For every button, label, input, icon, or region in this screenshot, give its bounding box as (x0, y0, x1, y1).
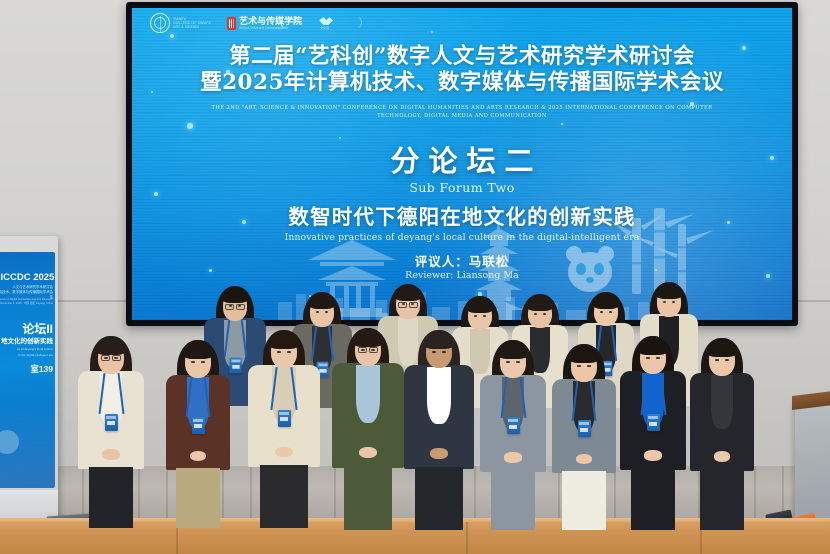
conference-badge (278, 410, 291, 427)
lower-garment (631, 468, 676, 529)
group-of-attendees (0, 0, 830, 554)
hair-fringe (424, 333, 453, 348)
hair-fringe (309, 295, 336, 309)
attendee-1 (78, 336, 144, 526)
hair-fringe (498, 343, 527, 358)
inner-garment (711, 375, 733, 429)
banner-forum-topic-en: es of deyang's local culture (0, 347, 55, 351)
glasses-icon (358, 347, 379, 351)
eye (534, 313, 537, 315)
banner-forum-topic-en2: in the digital-intelligent era (0, 353, 55, 357)
hair-fringe (222, 289, 249, 303)
hair-fringe (569, 347, 598, 362)
glasses-icon (398, 302, 417, 306)
banner-forum-label: 论坛II (0, 322, 55, 336)
lower-garment (89, 467, 134, 528)
attendee-3 (248, 330, 320, 526)
rollup-banner: & ICCDC 2025 人文与艺术研究学术研讨会 计算机技术、数字媒体与传播国… (0, 236, 58, 530)
hair-fringe (467, 299, 493, 313)
hair-fringe (96, 339, 125, 354)
conference-badge (229, 357, 241, 373)
lower-garment (260, 465, 309, 528)
attendee-4 (332, 328, 404, 528)
eye (600, 311, 603, 313)
banner-subtitle-cn: 人文与艺术研究学术研讨会 (0, 285, 55, 290)
hair-fringe (183, 343, 212, 358)
conference-badge (192, 417, 205, 434)
banner-subtitle-en: Conference on Digital Humanities and Art… (0, 298, 55, 301)
lower-garment (562, 471, 606, 530)
eye (474, 315, 477, 317)
banner-room-label: 室139 (0, 364, 55, 374)
conference-badge (507, 417, 520, 434)
attendee-6 (480, 340, 546, 528)
lectern (795, 394, 830, 531)
attendee-5 (404, 330, 474, 528)
banner-forum-topic-cn: 地文化的创新实践 (0, 338, 55, 346)
hands (504, 452, 521, 462)
hands (714, 451, 731, 461)
lower-garment (700, 469, 744, 530)
inner-garment (427, 367, 451, 424)
lower-garment (415, 467, 463, 530)
attendee-8 (620, 336, 686, 528)
banner-date: November 1, 2025 · 中国·德阳 Deyang, China (0, 302, 55, 305)
room-scene: TIANFU COLLEGE OF SWUFE ART & DESIGN 艺术与… (0, 0, 830, 554)
hair-fringe (656, 285, 683, 299)
hands (359, 447, 378, 458)
hair-fringe (527, 297, 553, 311)
attendee-7 (552, 344, 616, 528)
hair-fringe (269, 333, 298, 348)
conference-badge (578, 420, 591, 437)
lower-garment (176, 468, 220, 528)
hair-fringe (707, 341, 736, 356)
hands (644, 450, 661, 461)
rollup-banner-artwork: & ICCDC 2025 人文与艺术研究学术研讨会 计算机技术、数字媒体与传播国… (0, 252, 55, 488)
lower-garment (491, 470, 536, 530)
glasses-icon (101, 355, 122, 359)
hands (576, 454, 593, 464)
hair-fringe (353, 331, 382, 346)
conference-badge (647, 414, 660, 431)
attendee-2 (166, 340, 230, 526)
lower-garment (344, 466, 393, 530)
conference-badge (105, 414, 118, 431)
hair-fringe (593, 295, 619, 309)
glasses-icon (225, 304, 244, 308)
attendee-9 (690, 338, 754, 528)
hair-fringe (638, 339, 667, 354)
hair-fringe (395, 287, 422, 301)
hands (430, 448, 448, 459)
inner-garment (356, 365, 380, 423)
banner-title: & ICCDC 2025 (0, 272, 55, 283)
hands (102, 449, 119, 459)
